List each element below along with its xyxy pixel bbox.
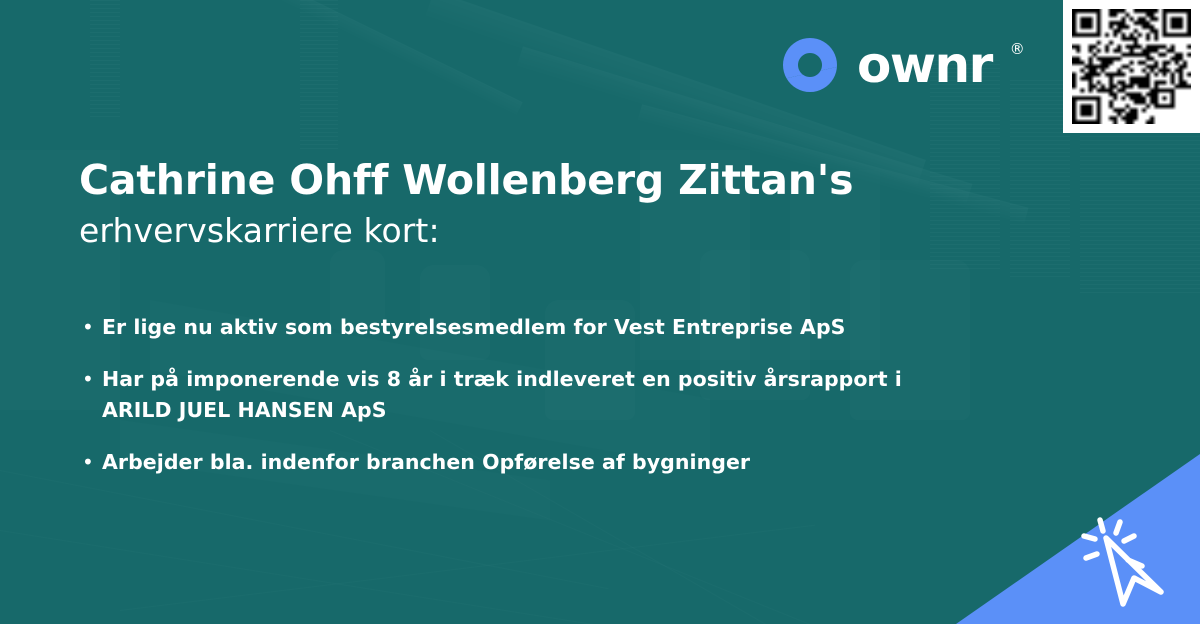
- list-item: • Er lige nu aktiv som bestyrelsesmedlem…: [82, 312, 962, 342]
- list-item: • Arbejder bla. indenfor branchen Opføre…: [82, 447, 962, 477]
- headline-secondary: erhvervskarriere kort:: [79, 210, 979, 253]
- bullet-dot-icon: •: [82, 312, 102, 342]
- bullet-dot-icon: •: [82, 364, 102, 394]
- brand-logo: ownr ®: [779, 34, 1025, 96]
- brand-wordmark: ownr: [857, 40, 992, 90]
- registered-trademark-symbol: ®: [1010, 40, 1025, 58]
- bullet-dot-icon: •: [82, 447, 102, 477]
- headline-primary: Cathrine Ohff Wollenberg Zittan's: [79, 156, 979, 204]
- promo-card: ownr ® Cathrine Ohff Wollenberg Zittan's…: [0, 0, 1200, 624]
- list-item: • Har på imponerende vis 8 år i træk ind…: [82, 364, 962, 425]
- list-item-label: Arbejder bla. indenfor branchen Opførels…: [102, 447, 750, 477]
- click-cursor-icon: [1076, 508, 1186, 618]
- page-title: Cathrine Ohff Wollenberg Zittan's erhver…: [79, 156, 979, 253]
- career-highlights-list: • Er lige nu aktiv som bestyrelsesmedlem…: [82, 312, 962, 499]
- ownr-circle-logo-icon: [779, 34, 841, 96]
- list-item-label: Er lige nu aktiv som bestyrelsesmedlem f…: [102, 312, 845, 342]
- qr-code-panel[interactable]: [1063, 0, 1200, 133]
- qr-code-icon: [1072, 9, 1191, 124]
- list-item-label: Har på imponerende vis 8 år i træk indle…: [102, 364, 962, 425]
